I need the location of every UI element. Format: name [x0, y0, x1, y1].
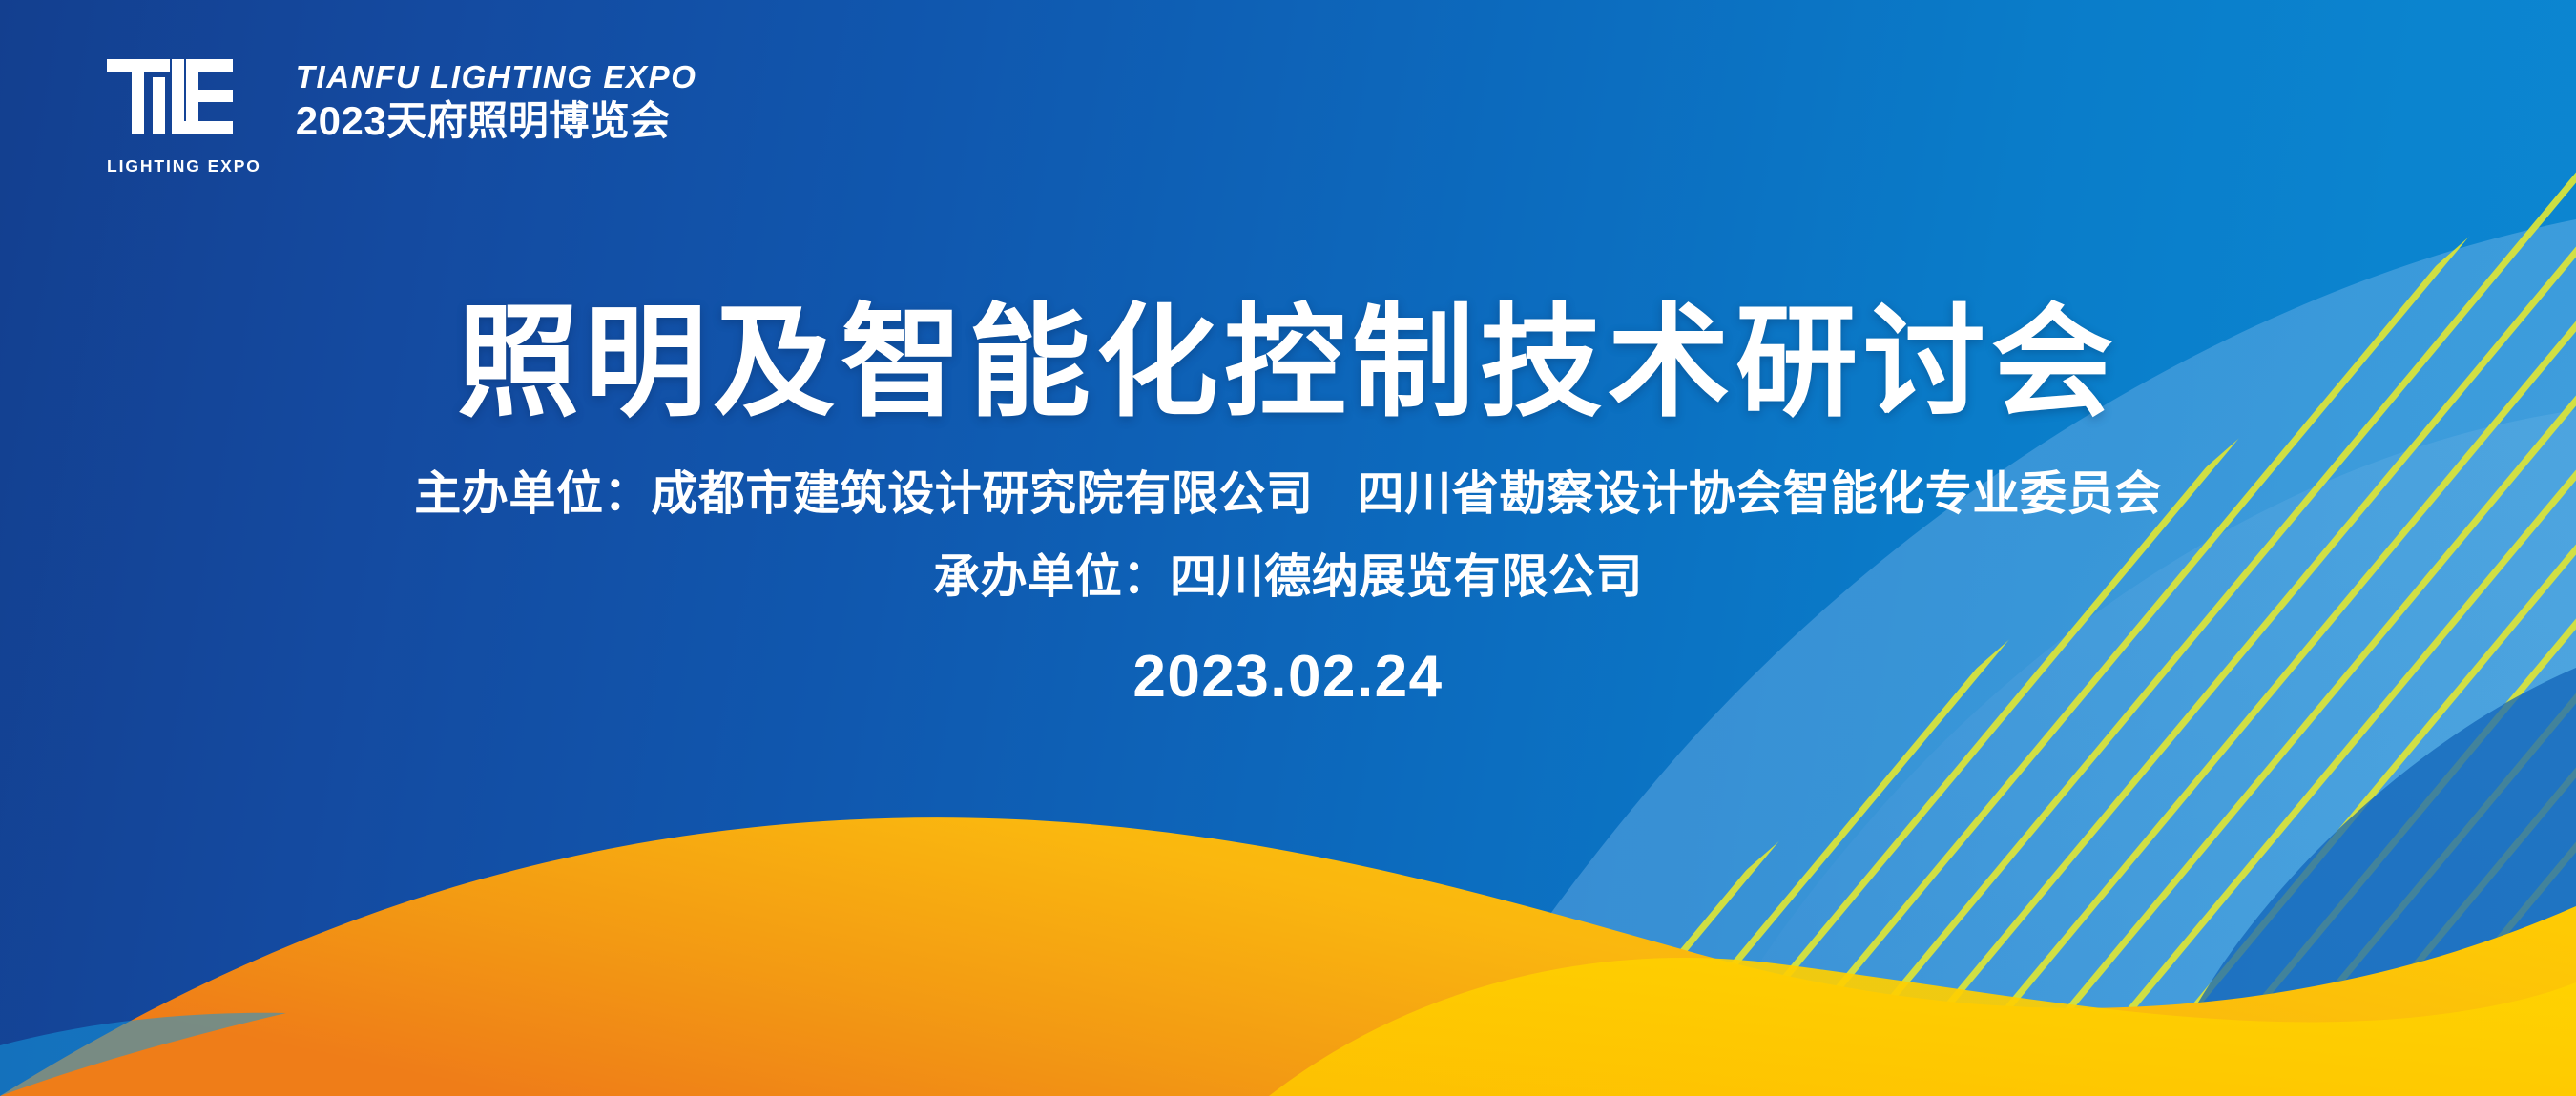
expo-name-en: TIANFU LIGHTING EXPO — [296, 61, 697, 94]
tile-logo-mark-icon — [107, 59, 233, 151]
host-name-1: 四川德纳展览有限公司 — [1170, 551, 1643, 603]
expo-name-cn: 2023天府照明博览会 — [296, 97, 697, 145]
host-line: 承办单位：四川德纳展览有限公司 — [57, 547, 2519, 609]
logo-block: LIGHTING EXPO TIANFU LIGHTING EXPO 2023天… — [107, 59, 696, 176]
page-title: 照明及智能化控制技术研讨会 — [57, 298, 2519, 429]
orange-wave — [0, 817, 2576, 1096]
main-content: 照明及智能化控制技术研讨会 主办单位：成都市建筑设计研究院有限公司四川省勘察设计… — [0, 298, 2576, 710]
yellow-wave-highlight — [1269, 958, 2576, 1096]
organizer-name-2: 四川省勘察设计协会智能化专业委员会 — [1358, 468, 2162, 520]
host-label: 承办单位： — [933, 551, 1170, 603]
event-date: 2023.02.24 — [57, 645, 2519, 710]
expo-banner: LIGHTING EXPO TIANFU LIGHTING EXPO 2023天… — [0, 0, 2576, 1096]
organizer-label: 主办单位： — [414, 468, 651, 520]
organizer-line: 主办单位：成都市建筑设计研究院有限公司四川省勘察设计协会智能化专业委员会 — [57, 464, 2519, 526]
logo-tagline: LIGHTING EXPO — [107, 156, 261, 176]
organizer-name-1: 成都市建筑设计研究院有限公司 — [651, 468, 1313, 520]
tile-logo: LIGHTING EXPO — [107, 59, 261, 176]
expo-name-block: TIANFU LIGHTING EXPO 2023天府照明博览会 — [296, 59, 697, 144]
